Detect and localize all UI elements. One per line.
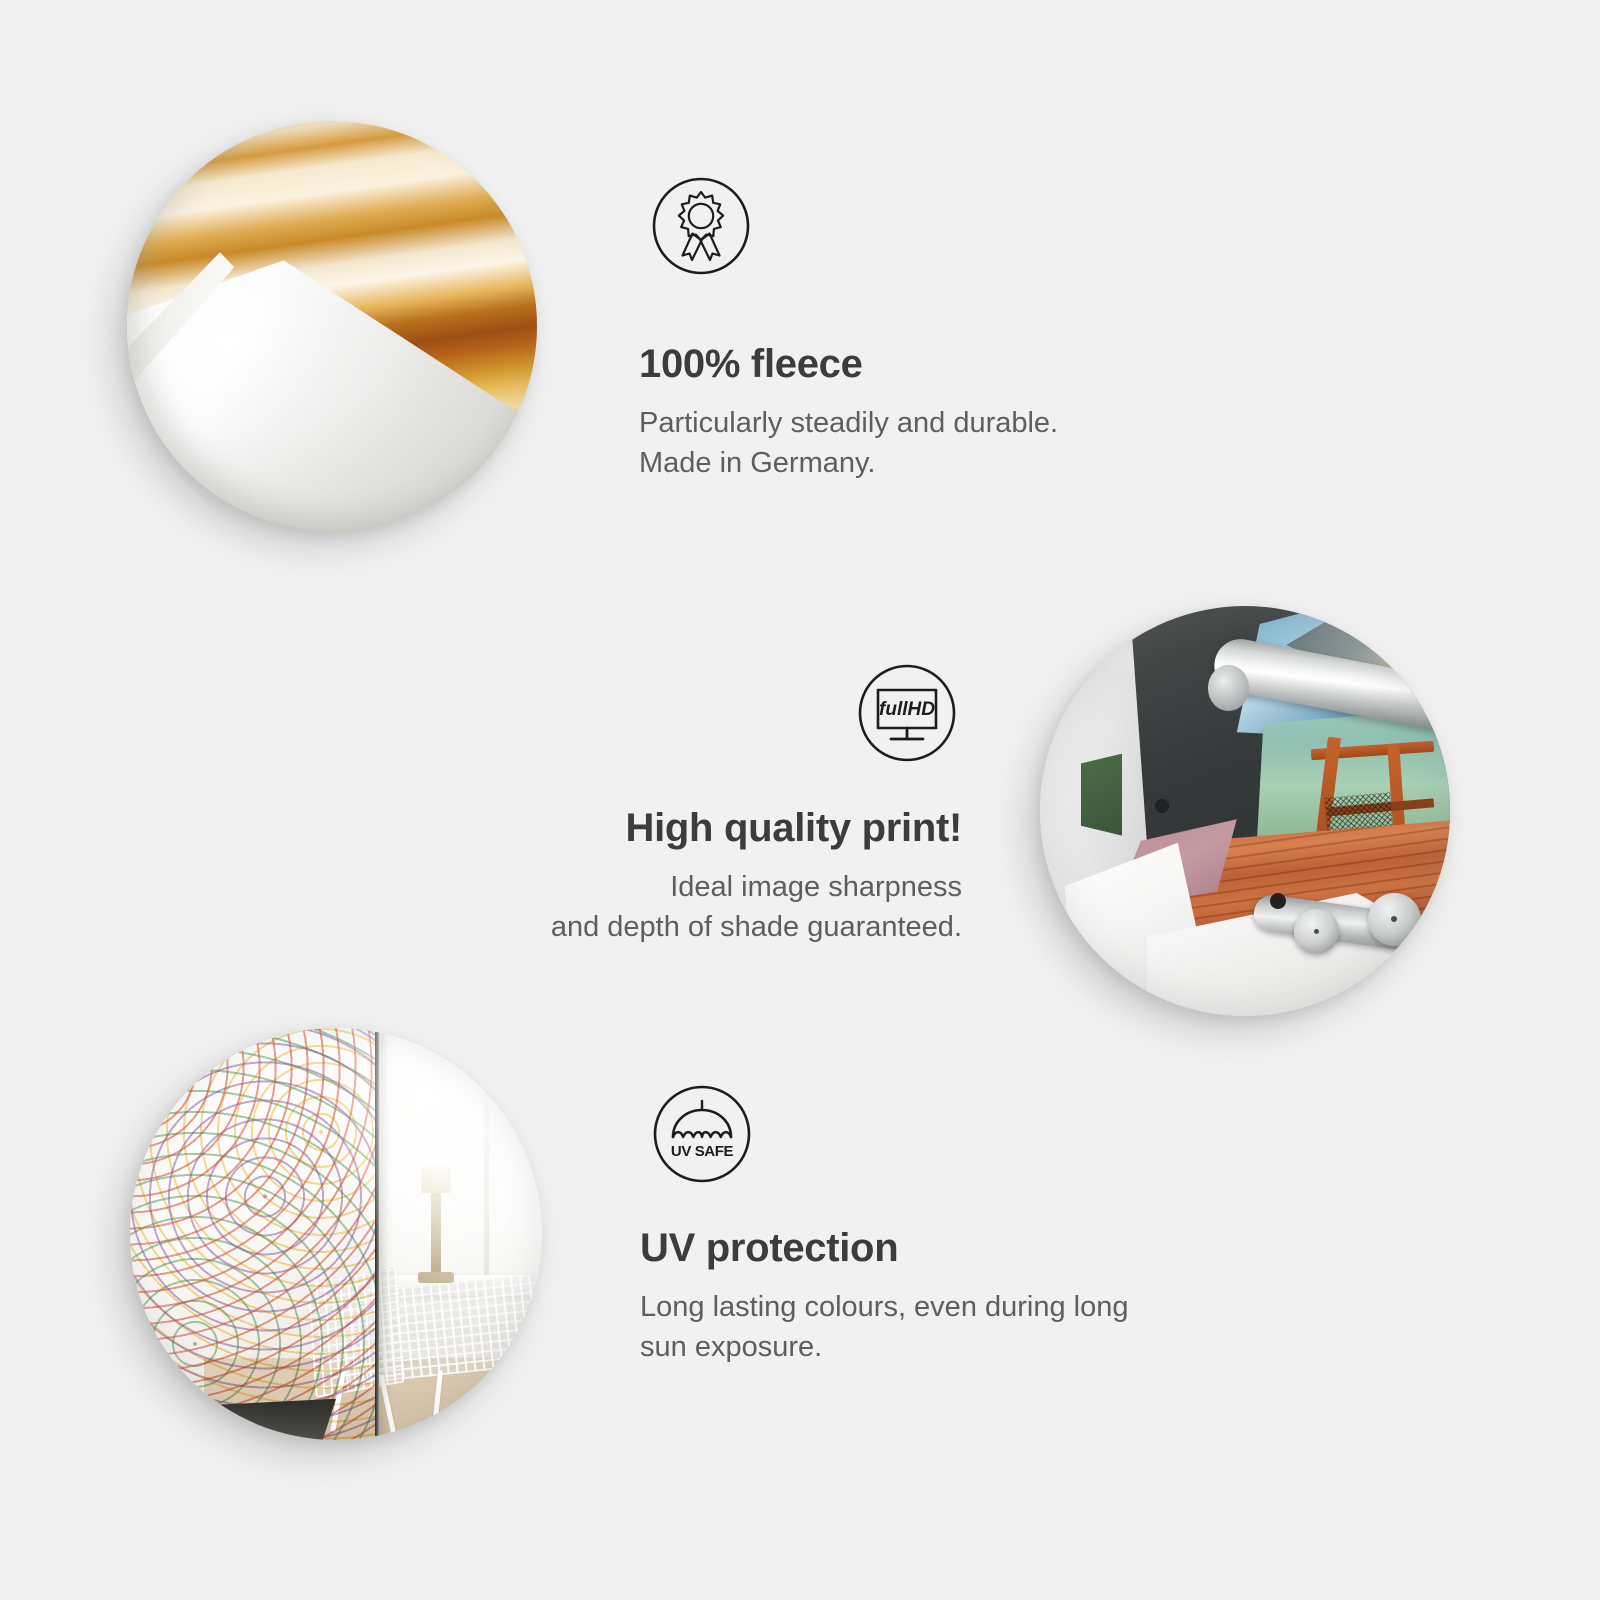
fullhd-monitor-icon: fullHD — [857, 663, 957, 763]
uv-safe-icon-label: UV SAFE — [671, 1143, 734, 1160]
feature-heading-print: High quality print! — [420, 806, 962, 850]
feature-subtitle-line2: and depth of shade guaranteed. — [420, 907, 962, 947]
feature-subtitle-line1: Particularly steadily and durable. — [639, 403, 1058, 443]
uv-safe-umbrella-icon: UV SAFE — [652, 1084, 752, 1184]
fleece-inner-shadow — [127, 121, 537, 531]
printer-vignette — [1040, 606, 1450, 1016]
fullhd-icon-label: fullHD — [879, 699, 935, 720]
feature-heading-fleece: 100% fleece — [639, 342, 1058, 386]
feature-subtitle-line2: sun exposure. — [640, 1327, 1129, 1367]
feature-subtitle-print: Ideal image sharpness and depth of shade… — [420, 867, 962, 947]
feature-subtitle-uv: Long lasting colours, even during long s… — [640, 1287, 1129, 1367]
feature-heading-uv: UV protection — [640, 1226, 1129, 1270]
feature-photo-printer — [1040, 606, 1450, 1016]
feature-photo-fleece — [127, 121, 537, 531]
feature-photo-mandala — [130, 1028, 542, 1440]
feature-text-fleece: 100% fleece Particularly steadily and du… — [639, 342, 1058, 483]
feature-subtitle-fleece: Particularly steadily and durable. Made … — [639, 403, 1058, 483]
award-ribbon-icon — [651, 176, 751, 276]
feature-text-print: High quality print! Ideal image sharpnes… — [420, 806, 962, 947]
mandala-vignette — [130, 1028, 542, 1440]
feature-subtitle-line2: Made in Germany. — [639, 443, 1058, 483]
feature-text-uv: UV protection Long lasting colours, even… — [640, 1226, 1129, 1367]
feature-subtitle-line1: Long lasting colours, even during long — [640, 1287, 1129, 1327]
feature-subtitle-line1: Ideal image sharpness — [420, 867, 962, 907]
